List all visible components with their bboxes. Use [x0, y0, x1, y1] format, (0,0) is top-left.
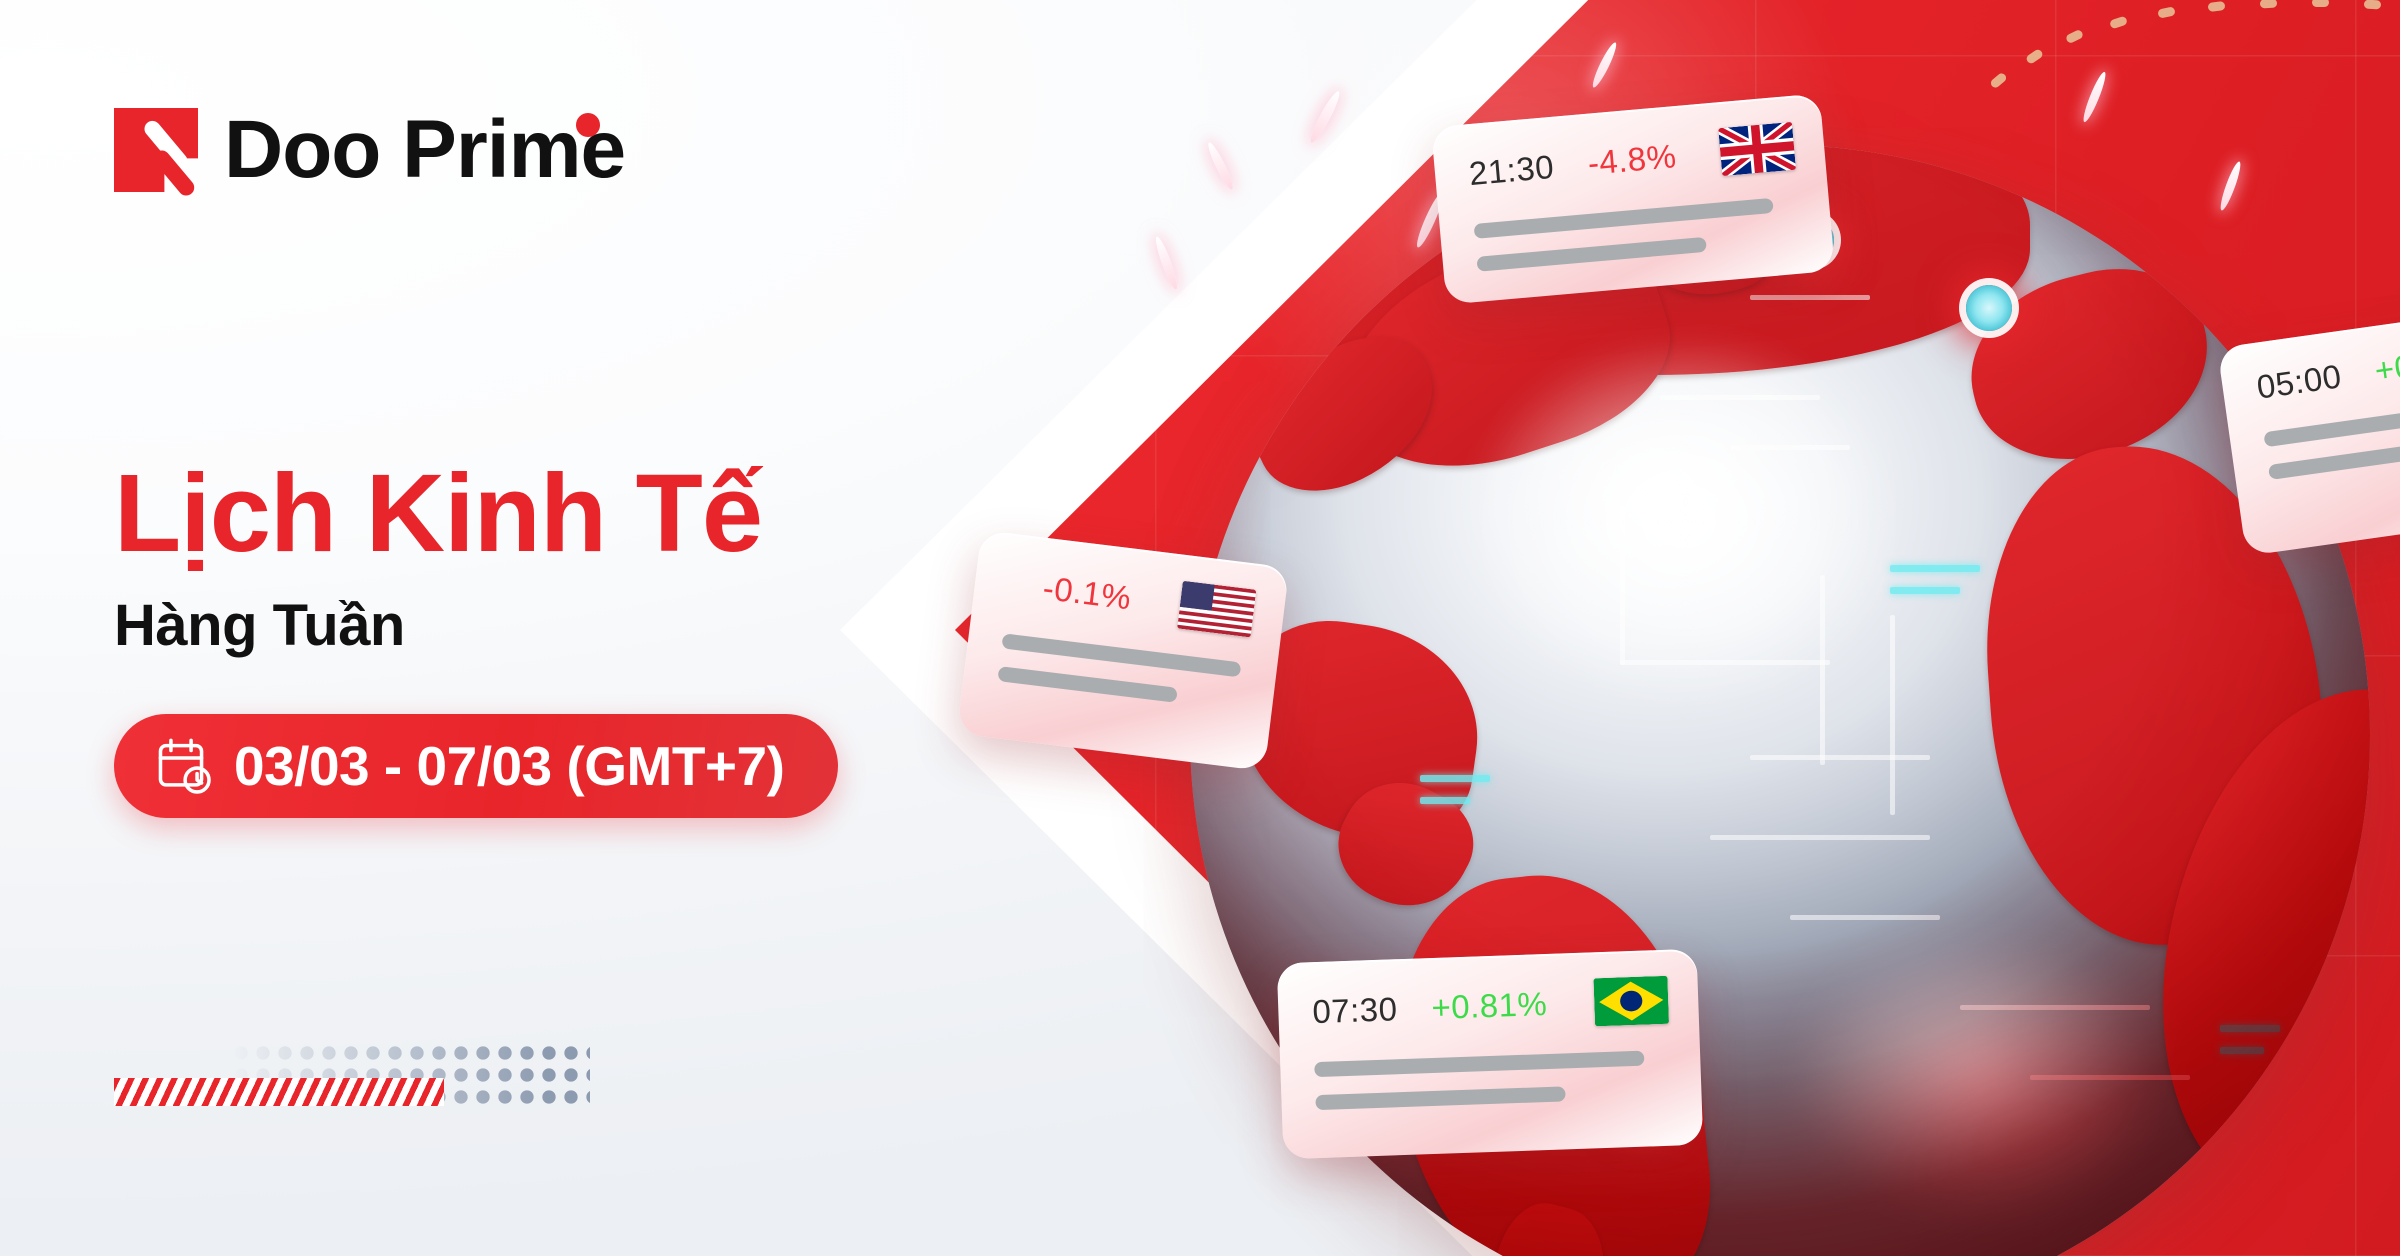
flag-brazil-icon	[1593, 976, 1669, 1027]
globe-pin-europe[interactable]	[1966, 285, 2012, 331]
event-card-uk[interactable]: 21:30 -4.8%	[1431, 93, 1835, 304]
event-change: -4.8%	[1586, 137, 1678, 183]
brand-name-text: Doo Prime	[224, 104, 625, 195]
light-streak	[1307, 89, 1343, 145]
event-time: 05:00	[2254, 357, 2344, 406]
event-change: +0.7	[2372, 343, 2400, 390]
page-subtitle: Hàng Tuần	[114, 592, 405, 659]
date-range-text: 03/03 - 07/03 (GMT+7)	[234, 734, 784, 798]
event-card-us[interactable]: -0.1%	[957, 530, 1290, 771]
event-card-brazil[interactable]: 07:30 +0.81%	[1277, 949, 1704, 1160]
event-text-placeholder-line	[1315, 1086, 1565, 1110]
page-title: Lịch Kinh Tế	[114, 458, 762, 570]
event-card-header: 07:30 +0.81%	[1312, 976, 1669, 1036]
brand-logo[interactable]: Doo Prime	[114, 108, 625, 192]
doo-prime-logo-mark-icon	[114, 108, 198, 192]
event-text-placeholder-line	[1314, 1051, 1644, 1078]
calendar-clock-icon	[156, 737, 212, 795]
event-card-header: 21:30 -4.8%	[1467, 122, 1796, 198]
event-change: -0.1%	[1041, 569, 1134, 618]
event-change: +0.81%	[1431, 985, 1548, 1027]
event-card-header: -0.1%	[1006, 560, 1256, 638]
economic-calendar-banner: 21:30 -4.8% -0.1%	[0, 0, 2400, 1256]
event-card-header: 05:00 +0.7	[2254, 328, 2400, 407]
event-text-placeholder-line	[1476, 237, 1706, 272]
event-text-placeholder-line	[2263, 396, 2400, 447]
brand-i-dot	[576, 113, 600, 137]
flag-us-icon	[1177, 581, 1256, 638]
event-time: 21:30	[1468, 148, 1556, 193]
event-text-placeholder-line	[1474, 198, 1774, 239]
decor-diagonal-stripes	[114, 1078, 444, 1106]
light-streak	[1153, 235, 1181, 291]
date-range-badge[interactable]: 03/03 - 07/03 (GMT+7)	[114, 714, 838, 818]
event-time: 07:30	[1312, 990, 1398, 1031]
event-text-placeholder-line	[997, 666, 1177, 703]
brand-name: Doo Prime	[224, 109, 625, 191]
flag-uk-icon	[1718, 122, 1796, 176]
